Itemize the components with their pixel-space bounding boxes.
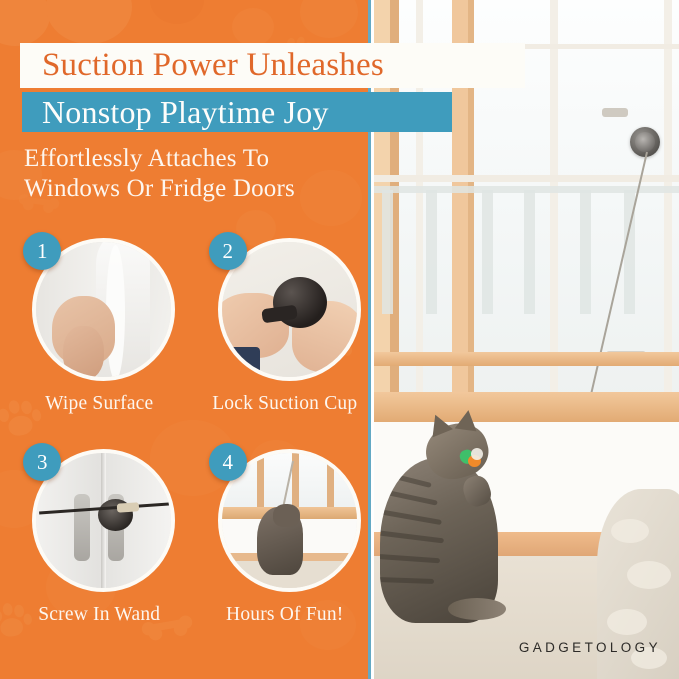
- step-3-caption: Screw In Wand: [13, 604, 186, 626]
- railing-baluster: [382, 190, 393, 314]
- railing-baluster: [482, 190, 493, 314]
- step-1-number-badge: 1: [23, 232, 61, 270]
- subheadline: Effortlessly Attaches To Windows Or Frid…: [24, 144, 364, 203]
- window-sash-rail: [374, 352, 679, 366]
- step-4: 4 Hours Of Fun!: [199, 443, 372, 626]
- cat-tail: [448, 598, 506, 620]
- step-2-caption: Lock Suction Cup: [199, 393, 372, 415]
- brand-logo: GADGETOLOGY: [519, 640, 661, 655]
- muntin-3: [664, 0, 672, 407]
- step-1-caption: Wipe Surface: [13, 393, 186, 415]
- steps-grid: 1 Wipe Surface 2 Lock Suct: [0, 232, 371, 626]
- window-sill: [374, 392, 679, 422]
- railing-baluster: [580, 190, 591, 314]
- railing-baluster: [426, 190, 437, 314]
- window-latch: [602, 108, 628, 117]
- headline-band-secondary: Nonstop Playtime Joy: [22, 92, 452, 132]
- step-4-caption: Hours Of Fun!: [199, 604, 372, 626]
- headline-line-1: Suction Power Unleashes: [20, 49, 384, 82]
- step-3: 3 Screw In Wand: [13, 443, 186, 626]
- step-2-number-badge: 2: [209, 232, 247, 270]
- subheadline-line-1: Effortlessly Attaches To: [24, 144, 364, 174]
- step-3-number-badge: 3: [23, 443, 61, 481]
- headline-band-primary: Suction Power Unleashes: [20, 43, 525, 88]
- steps-row-bottom: 3 Screw In Wand: [0, 443, 371, 626]
- subheadline-line-2: Windows Or Fridge Doors: [24, 174, 364, 204]
- steps-row-top: 1 Wipe Surface 2 Lock Suct: [0, 232, 371, 415]
- step-2: 2 Lock Suction Cup: [199, 232, 372, 415]
- railing-baluster: [524, 190, 535, 314]
- step-4-number-badge: 4: [209, 443, 247, 481]
- feather-toy: [460, 448, 484, 468]
- cat-ear-right: [455, 409, 480, 432]
- muntin-horizontal-mid: [374, 175, 679, 182]
- product-infographic: 1 Wipe Surface 2 Lock Suct: [0, 0, 679, 679]
- step-1: 1 Wipe Surface: [13, 232, 186, 415]
- headline-line-2: Nonstop Playtime Joy: [22, 96, 329, 128]
- muntin-2: [550, 0, 558, 407]
